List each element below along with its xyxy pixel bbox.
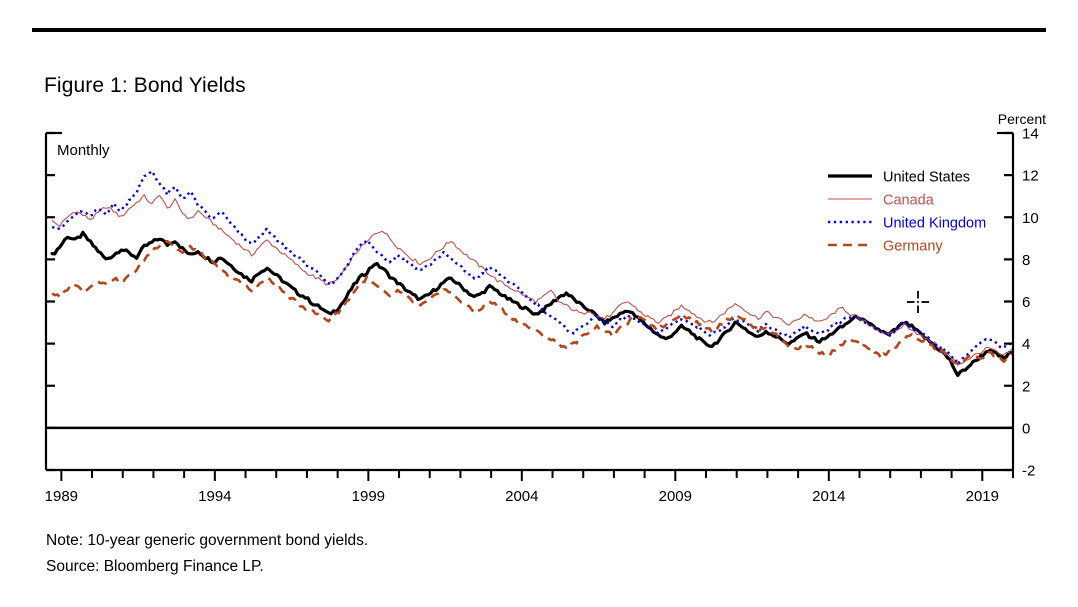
chart-legend: United StatesCanadaUnited KingdomGermany bbox=[828, 170, 986, 255]
x-tick-label: 2019 bbox=[966, 488, 999, 505]
y-tick-label: 2 bbox=[1022, 378, 1030, 395]
x-axis-ticks: 1989199419992004200920142019 bbox=[45, 470, 1013, 505]
y-tick-label: 8 bbox=[1022, 252, 1030, 269]
series-line-canada bbox=[52, 195, 1011, 366]
series-line-united-kingdom bbox=[52, 171, 1011, 364]
x-tick-label: 1994 bbox=[198, 488, 231, 505]
series-line-united-states bbox=[52, 232, 1011, 375]
plot-frame bbox=[46, 133, 1013, 470]
bond-yields-chart: -202468101214 19891994199920042009201420… bbox=[0, 0, 1078, 607]
x-tick-label: 2004 bbox=[505, 488, 538, 505]
legend-label-united-states: United States bbox=[883, 170, 970, 186]
x-tick-label: 1999 bbox=[352, 488, 385, 505]
legend-label-united-kingdom: United Kingdom bbox=[883, 216, 986, 232]
y-tick-label: 0 bbox=[1022, 420, 1030, 437]
series-lines bbox=[52, 171, 1011, 375]
x-tick-label: 1989 bbox=[45, 488, 78, 505]
y-tick-label: 12 bbox=[1022, 168, 1039, 185]
legend-label-germany: Germany bbox=[883, 239, 943, 255]
figure-page: Figure 1: Bond Yields Percent Monthly -2… bbox=[0, 0, 1078, 607]
x-tick-label: 2014 bbox=[812, 488, 845, 505]
note-text: Note: 10-year generic government bond yi… bbox=[46, 528, 368, 554]
y-tick-label: 10 bbox=[1022, 210, 1039, 227]
crosshair-cursor bbox=[907, 291, 929, 313]
y-tick-label: 14 bbox=[1022, 126, 1039, 143]
y-tick-label: 6 bbox=[1022, 294, 1030, 311]
source-text: Source: Bloomberg Finance LP. bbox=[46, 554, 368, 580]
x-tick-label: 2009 bbox=[659, 488, 692, 505]
y-tick-label: -2 bbox=[1022, 463, 1035, 480]
legend-label-canada: Canada bbox=[883, 193, 935, 209]
y-tick-label: 4 bbox=[1022, 336, 1030, 353]
figure-footnotes: Note: 10-year generic government bond yi… bbox=[46, 528, 368, 580]
series-line-germany bbox=[52, 241, 1011, 363]
